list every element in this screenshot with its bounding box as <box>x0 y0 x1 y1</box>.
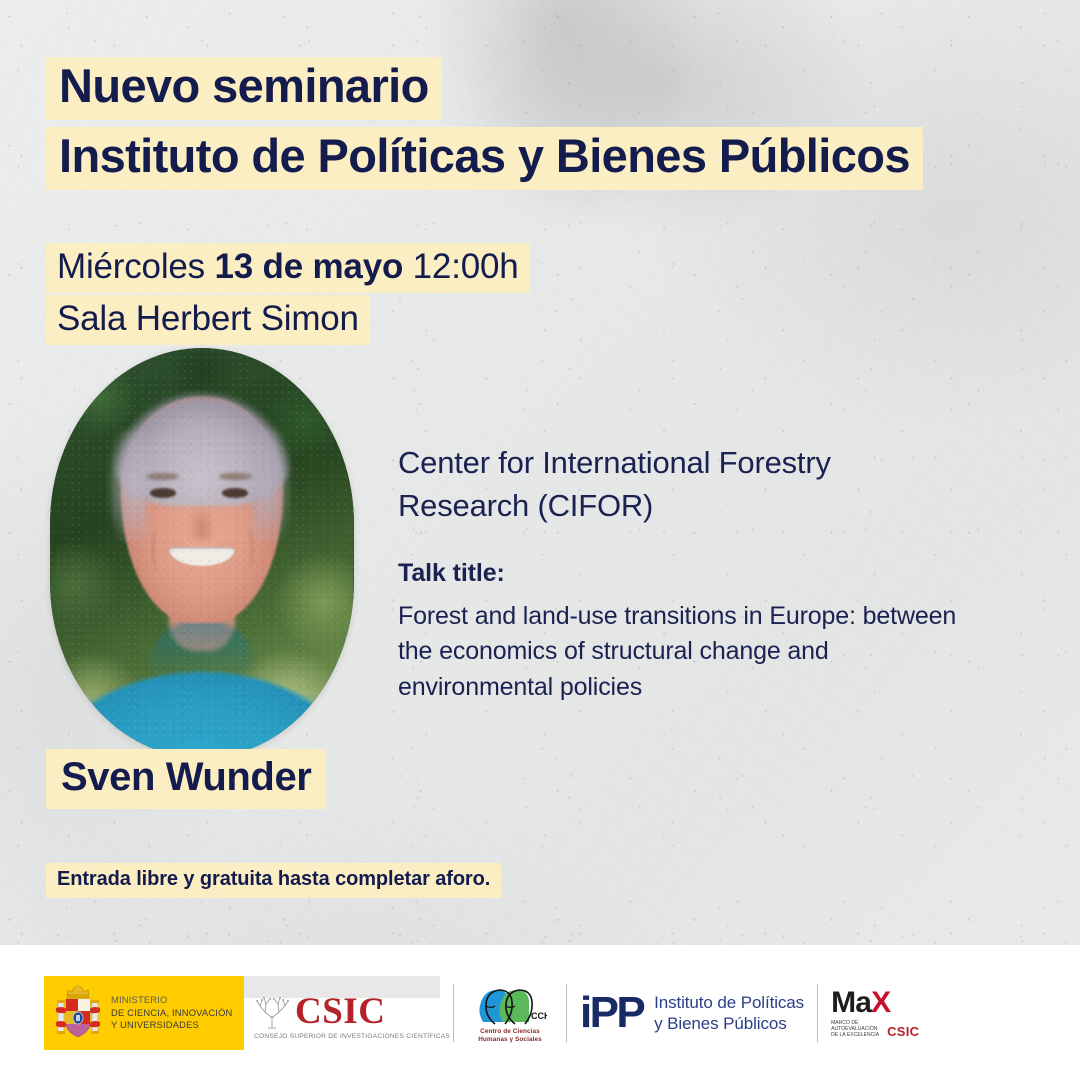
event-day-label: Miércoles <box>57 247 214 286</box>
cchs-text: Centro de Ciencias Humanas y Sociales <box>478 1028 542 1044</box>
page-title: Nuevo seminario Instituto de Políticas y… <box>46 57 923 190</box>
speaker-name-badge: Sven Wunder <box>46 749 326 809</box>
max-mark-x: X <box>871 986 890 1019</box>
event-date: 13 de mayo <box>214 247 403 286</box>
ministry-line-3: Y UNIVERSIDADES <box>111 1019 233 1031</box>
csic-main: CSIC <box>254 993 432 1030</box>
ministry-line-2: DE CIENCIA, INNOVACIÓN <box>111 1007 233 1019</box>
photo-grain <box>50 348 354 758</box>
cchs-line-2: Humanas y Sociales <box>478 1036 542 1044</box>
spanish-coat-of-arms-icon <box>54 984 102 1042</box>
cchs-line-1: Centro de Ciencias <box>478 1028 542 1036</box>
footer-logo-bar: MINISTERIO DE CIENCIA, INNOVACIÓN Y UNIV… <box>0 945 1080 1080</box>
seminar-poster: Nuevo seminario Instituto de Políticas y… <box>0 0 1080 1080</box>
max-logo: MaX Marco de autoevaluación de la excele… <box>831 988 927 1038</box>
logo-row: MINISTERIO DE CIENCIA, INNOVACIÓN Y UNIV… <box>44 968 927 1058</box>
csic-wordmark: CSIC <box>295 993 385 1030</box>
max-subtitle: Marco de autoevaluación de la excelencia <box>831 1020 883 1038</box>
divider <box>453 984 454 1042</box>
csic-subtitle: CONSEJO SUPERIOR DE INVESTIGACIONES CIEN… <box>254 1033 432 1040</box>
speaker-name-label: Sven Wunder <box>46 749 326 809</box>
ipp-line-2: y Bienes Públicos <box>654 1013 804 1034</box>
csic-logo: CSIC CONSEJO SUPERIOR DE INVESTIGACIONES… <box>244 976 440 1050</box>
avatar <box>50 348 354 758</box>
ministry-text: MINISTERIO DE CIENCIA, INNOVACIÓN Y UNIV… <box>111 994 233 1031</box>
csic-tree-icon <box>254 994 290 1030</box>
event-room: Sala Herbert Simon <box>46 295 370 345</box>
talk-title-label: Talk title: <box>398 559 958 588</box>
max-mark-ma: Ma <box>831 986 871 1019</box>
divider <box>817 984 818 1042</box>
event-time: 12:00h <box>403 247 518 286</box>
free-entry-note: Entrada libre y gratuita hasta completar… <box>46 863 501 898</box>
ipp-line-1: Instituto de Políticas <box>654 992 804 1013</box>
talk-info: Center for International Forestry Resear… <box>398 442 958 706</box>
event-datetime: Miércoles 13 de mayo 12:00h <box>46 243 530 293</box>
ipp-logo: iPP Instituto de Políticas y Bienes Públ… <box>580 991 804 1035</box>
free-entry-label: Entrada libre y gratuita hasta completar… <box>46 863 501 898</box>
divider <box>566 984 567 1042</box>
max-wordmark: MaX <box>831 988 927 1018</box>
ministry-logo: MINISTERIO DE CIENCIA, INNOVACIÓN Y UNIV… <box>44 976 244 1050</box>
max-csic-label: CSIC <box>887 1025 919 1038</box>
speaker-photo-wrapper <box>50 348 354 758</box>
cchs-acronym: CCHS <box>531 1011 547 1021</box>
event-details: Miércoles 13 de mayo 12:00h Sala Herbert… <box>46 243 530 345</box>
cchs-heads-icon: CCHS <box>473 982 547 1026</box>
headline-line-2: Instituto de Políticas y Bienes Públicos <box>46 127 923 190</box>
speaker-affiliation: Center for International Forestry Resear… <box>398 442 958 528</box>
ipp-text: Instituto de Políticas y Bienes Públicos <box>654 992 804 1035</box>
max-bottom: Marco de autoevaluación de la excelencia… <box>831 1020 927 1038</box>
ipp-wordmark: iPP <box>580 991 643 1035</box>
talk-title-text: Forest and land-use transitions in Europ… <box>398 599 958 706</box>
cchs-logo: CCHS Centro de Ciencias Humanas y Social… <box>467 982 553 1044</box>
headline-line-1: Nuevo seminario <box>46 57 442 120</box>
ministry-line-1: MINISTERIO <box>111 994 233 1006</box>
